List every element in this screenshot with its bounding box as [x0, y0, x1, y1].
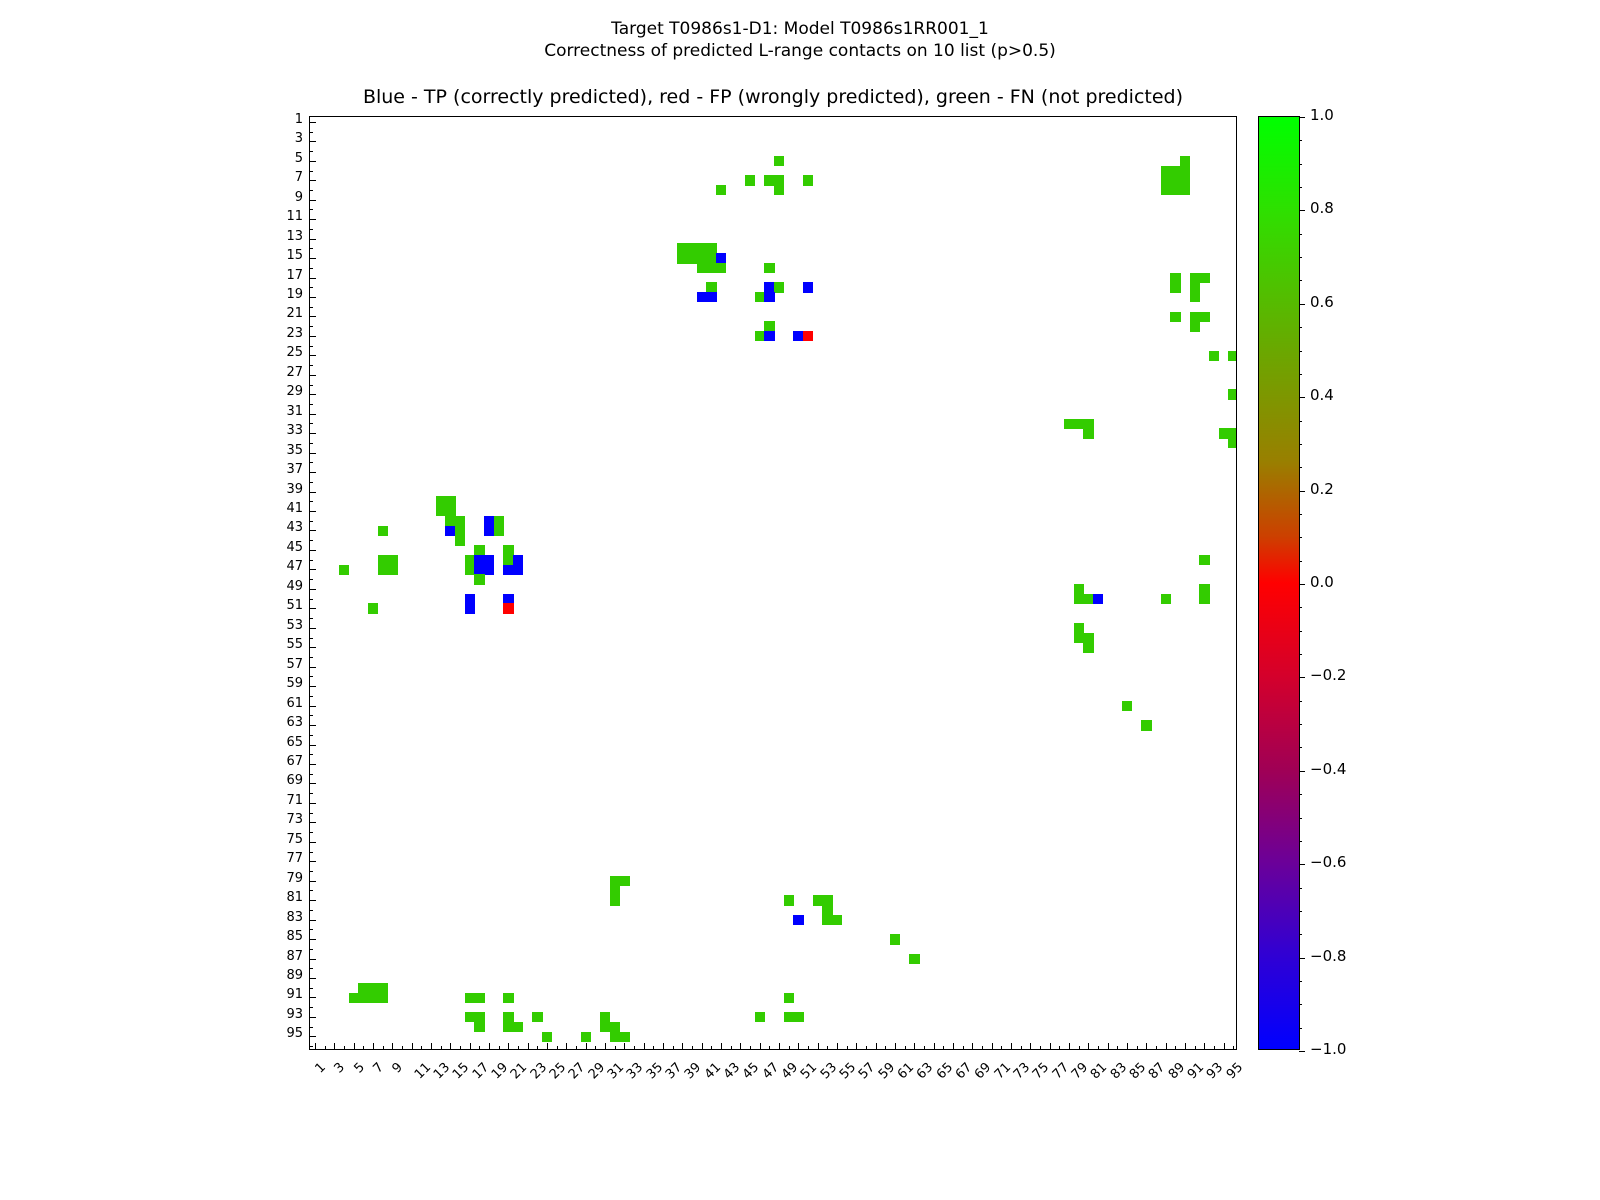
- x-tick: [373, 1043, 374, 1050]
- colorbar-minor-tick: [1299, 140, 1302, 141]
- y-tick: [309, 297, 316, 298]
- y-tick: [309, 949, 313, 950]
- y-tick-label: 63: [259, 715, 303, 730]
- contact-map-page: { "title": { "line1": "Target T0986s1-D1…: [0, 0, 1600, 1200]
- contact-cell: [1180, 185, 1190, 195]
- y-tick: [309, 171, 313, 172]
- y-tick: [309, 180, 316, 181]
- y-tick: [309, 842, 316, 843]
- contact-cell: [368, 603, 378, 613]
- contact-cell: [1199, 273, 1209, 283]
- y-tick: [309, 608, 316, 609]
- colorbar[interactable]: [1258, 116, 1300, 1050]
- y-tick: [309, 1027, 313, 1028]
- figure-title-line1: Target T0986s1-D1: Model T0986s1RR001_1: [0, 18, 1600, 40]
- x-tick: [450, 1043, 451, 1050]
- x-tick: [1117, 1046, 1118, 1050]
- colorbar-tick: [1299, 1051, 1305, 1052]
- x-tick: [837, 1043, 838, 1050]
- contact-cell: [764, 292, 774, 302]
- x-tick: [499, 1046, 500, 1050]
- y-tick: [309, 540, 313, 541]
- colorbar-minor-tick: [1299, 934, 1302, 935]
- y-tick: [309, 832, 313, 833]
- x-tick: [663, 1043, 664, 1050]
- y-tick: [309, 414, 316, 415]
- y-tick: [309, 735, 313, 736]
- x-tick: [615, 1046, 616, 1050]
- colorbar-tick-label: 0.8: [1310, 199, 1334, 217]
- x-tick: [789, 1046, 790, 1050]
- x-tick: [586, 1043, 587, 1050]
- colorbar-tick-label: −0.6: [1310, 853, 1346, 871]
- y-tick: [309, 346, 313, 347]
- contact-cell: [503, 603, 513, 613]
- y-tick: [309, 132, 313, 133]
- x-tick: [711, 1046, 712, 1050]
- colorbar-minor-tick: [1299, 631, 1302, 632]
- x-tick: [566, 1043, 567, 1050]
- contact-cell: [474, 1022, 484, 1032]
- y-tick: [309, 667, 316, 668]
- contact-cell: [1083, 642, 1093, 652]
- x-tick: [750, 1046, 751, 1050]
- y-tick-label: 39: [259, 482, 303, 497]
- y-tick: [309, 783, 316, 784]
- y-tick: [309, 268, 313, 269]
- y-tick-label: 35: [259, 443, 303, 458]
- contact-cell: [1161, 594, 1171, 604]
- y-tick-label: 47: [259, 559, 303, 574]
- contact-cell: [774, 282, 784, 292]
- y-tick: [309, 657, 313, 658]
- colorbar-minor-tick: [1299, 164, 1302, 165]
- y-tick-label: 7: [259, 170, 303, 185]
- x-tick: [547, 1043, 548, 1050]
- contact-cell: [1083, 428, 1093, 438]
- x-tick: [334, 1043, 335, 1050]
- colorbar-minor-tick: [1299, 1004, 1302, 1005]
- y-tick: [309, 968, 313, 969]
- contact-cell: [1199, 312, 1209, 322]
- contact-cell: [339, 565, 349, 575]
- x-tick: [1059, 1046, 1060, 1050]
- x-tick-label: 5: [351, 1060, 367, 1076]
- y-tick: [309, 706, 316, 707]
- y-tick-label: 33: [259, 423, 303, 438]
- x-tick: [644, 1043, 645, 1050]
- colorbar-tick: [1299, 864, 1305, 865]
- y-tick-label: 37: [259, 462, 303, 477]
- x-tick: [1175, 1046, 1176, 1050]
- y-tick: [309, 287, 313, 288]
- y-tick: [309, 141, 316, 142]
- y-tick: [309, 1017, 316, 1018]
- y-tick-label: 17: [259, 268, 303, 283]
- colorbar-tick: [1299, 397, 1305, 398]
- contact-cells-layer: [310, 117, 1236, 1049]
- colorbar-tick: [1299, 117, 1305, 118]
- y-tick: [309, 774, 313, 775]
- x-tick: [972, 1043, 973, 1050]
- x-tick: [682, 1043, 683, 1050]
- y-tick: [309, 482, 313, 483]
- y-tick-label: 49: [259, 579, 303, 594]
- y-tick: [309, 423, 313, 424]
- x-tick: [402, 1046, 403, 1050]
- x-tick: [1021, 1046, 1022, 1050]
- y-tick-label: 93: [259, 1007, 303, 1022]
- contact-cell: [716, 263, 726, 273]
- x-tick: [856, 1043, 857, 1050]
- y-tick: [309, 997, 316, 998]
- x-tick: [325, 1046, 326, 1050]
- x-tick: [624, 1043, 625, 1050]
- colorbar-minor-tick: [1299, 1028, 1302, 1029]
- y-tick: [309, 871, 313, 872]
- y-tick-label: 5: [259, 151, 303, 166]
- y-tick: [309, 200, 316, 201]
- x-tick: [827, 1046, 828, 1050]
- y-tick-label: 77: [259, 851, 303, 866]
- y-tick: [309, 219, 316, 220]
- y-tick: [309, 628, 316, 629]
- y-tick: [309, 881, 316, 882]
- x-tick: [421, 1046, 422, 1050]
- y-tick-label: 73: [259, 812, 303, 827]
- contact-cell: [706, 292, 716, 302]
- colorbar-minor-tick: [1299, 654, 1302, 655]
- contact-cell: [465, 603, 475, 613]
- y-tick: [309, 443, 313, 444]
- contact-cell: [532, 1012, 542, 1022]
- x-tick-label: 7: [370, 1060, 386, 1076]
- contact-cell: [542, 1032, 552, 1042]
- x-tick: [818, 1043, 819, 1050]
- contact-cell: [387, 565, 397, 575]
- x-tick-label: 95: [1223, 1060, 1245, 1082]
- colorbar-minor-tick: [1299, 537, 1302, 538]
- x-tick: [1127, 1043, 1128, 1050]
- y-tick: [309, 161, 316, 162]
- contact-cell: [513, 565, 523, 575]
- y-tick: [309, 394, 316, 395]
- contact-cell: [474, 574, 484, 584]
- colorbar-minor-tick: [1299, 841, 1302, 842]
- y-tick: [309, 492, 316, 493]
- y-tick: [309, 900, 316, 901]
- x-tick: [383, 1046, 384, 1050]
- y-tick-label: 69: [259, 773, 303, 788]
- contact-cell: [455, 535, 465, 545]
- y-tick: [309, 530, 316, 531]
- colorbar-minor-tick: [1299, 327, 1302, 328]
- x-tick: [673, 1046, 674, 1050]
- y-tick-label: 65: [259, 735, 303, 750]
- x-tick: [702, 1043, 703, 1050]
- x-tick: [1011, 1043, 1012, 1050]
- y-tick: [309, 618, 313, 619]
- contact-cell: [581, 1032, 591, 1042]
- y-tick: [309, 316, 316, 317]
- y-tick-label: 57: [259, 657, 303, 672]
- y-tick: [309, 521, 313, 522]
- x-tick: [557, 1046, 558, 1050]
- contact-cell: [1209, 351, 1219, 361]
- contact-cell: [1199, 594, 1209, 604]
- x-tick: [634, 1046, 635, 1050]
- y-tick: [309, 453, 316, 454]
- contact-cell: [1093, 594, 1103, 604]
- x-tick: [905, 1046, 906, 1050]
- y-tick: [309, 754, 313, 755]
- x-tick: [798, 1043, 799, 1050]
- x-tick: [1166, 1043, 1167, 1050]
- contact-cell: [1199, 555, 1209, 565]
- y-tick-label: 95: [259, 1026, 303, 1041]
- y-tick: [309, 307, 313, 308]
- colorbar-tick: [1299, 771, 1305, 772]
- y-tick: [309, 978, 316, 979]
- y-tick: [309, 190, 313, 191]
- x-tick: [1137, 1046, 1138, 1050]
- x-tick: [769, 1046, 770, 1050]
- colorbar-minor-tick: [1299, 257, 1302, 258]
- y-tick-label: 87: [259, 949, 303, 964]
- colorbar-minor-tick: [1299, 818, 1302, 819]
- y-axis-tick-labels: 1357911131517192123252729313335373941434…: [255, 116, 303, 1050]
- y-tick-label: 11: [259, 209, 303, 224]
- y-tick: [309, 764, 316, 765]
- contact-cell: [832, 915, 842, 925]
- contact-cell: [803, 175, 813, 185]
- y-tick: [309, 229, 313, 230]
- y-tick-label: 9: [259, 190, 303, 205]
- y-tick-label: 67: [259, 754, 303, 769]
- colorbar-tick: [1299, 677, 1305, 678]
- x-tick: [392, 1043, 393, 1050]
- y-tick-label: 51: [259, 598, 303, 613]
- x-tick: [1001, 1046, 1002, 1050]
- x-tick: [1030, 1043, 1031, 1050]
- y-tick: [309, 939, 316, 940]
- contact-cell: [890, 934, 900, 944]
- contact-cell: [610, 895, 620, 905]
- contact-cell: [774, 156, 784, 166]
- y-tick: [309, 433, 316, 434]
- contact-cell: [793, 1012, 803, 1022]
- colorbar-minor-tick: [1299, 561, 1302, 562]
- x-tick: [363, 1046, 364, 1050]
- y-tick-label: 91: [259, 987, 303, 1002]
- y-tick-label: 23: [259, 326, 303, 341]
- y-tick: [309, 336, 316, 337]
- y-tick: [309, 1036, 316, 1037]
- y-tick: [309, 1007, 313, 1008]
- colorbar-minor-tick: [1299, 981, 1302, 982]
- y-tick: [309, 278, 316, 279]
- x-tick: [595, 1046, 596, 1050]
- x-tick: [1214, 1046, 1215, 1050]
- y-tick: [309, 793, 313, 794]
- title-block: Target T0986s1-D1: Model T0986s1RR001_1 …: [0, 18, 1600, 62]
- x-tick: [992, 1043, 993, 1050]
- y-tick-label: 83: [259, 910, 303, 925]
- x-tick: [528, 1043, 529, 1050]
- colorbar-minor-tick: [1299, 234, 1302, 235]
- axes-legend-title: Blue - TP (correctly predicted), red - F…: [309, 86, 1237, 108]
- contact-cell: [378, 526, 388, 536]
- contact-cell: [1228, 389, 1236, 399]
- contact-map-plot[interactable]: [309, 116, 1237, 1050]
- y-tick: [309, 248, 313, 249]
- y-tick: [309, 959, 316, 960]
- x-tick: [1069, 1043, 1070, 1050]
- y-tick: [309, 599, 313, 600]
- colorbar-minor-tick: [1299, 280, 1302, 281]
- colorbar-tick: [1299, 210, 1305, 211]
- x-tick: [885, 1046, 886, 1050]
- colorbar-tick-label: −1.0: [1310, 1040, 1346, 1058]
- y-tick-label: 45: [259, 540, 303, 555]
- x-tick: [1185, 1043, 1186, 1050]
- x-tick: [876, 1043, 877, 1050]
- x-tick: [808, 1046, 809, 1050]
- colorbar-tick-label: −0.2: [1310, 666, 1346, 684]
- colorbar-tick-label: 0.6: [1310, 293, 1334, 311]
- y-tick: [309, 209, 313, 210]
- contact-cell: [764, 331, 774, 341]
- x-tick: [760, 1043, 761, 1050]
- colorbar-minor-tick: [1299, 514, 1302, 515]
- y-tick: [309, 861, 316, 862]
- x-tick: [489, 1043, 490, 1050]
- y-tick: [309, 122, 316, 123]
- contact-cell: [378, 993, 388, 1003]
- y-tick-label: 55: [259, 637, 303, 652]
- y-tick: [309, 569, 316, 570]
- contact-cell: [784, 993, 794, 1003]
- y-tick: [309, 511, 316, 512]
- x-tick: [315, 1043, 316, 1050]
- x-tick: [1224, 1043, 1225, 1050]
- colorbar-minor-tick: [1299, 187, 1302, 188]
- y-tick-label: 25: [259, 345, 303, 360]
- y-tick-label: 85: [259, 929, 303, 944]
- x-tick: [1233, 1046, 1234, 1050]
- contact-cell: [755, 1012, 765, 1022]
- colorbar-tick: [1299, 958, 1305, 959]
- x-tick: [576, 1046, 577, 1050]
- x-tick: [605, 1043, 606, 1050]
- x-tick-label: 1: [312, 1060, 328, 1076]
- x-tick: [982, 1046, 983, 1050]
- y-tick-label: 89: [259, 968, 303, 983]
- colorbar-tick: [1299, 584, 1305, 585]
- y-tick-label: 15: [259, 248, 303, 263]
- x-axis-tick-labels: 1357911131517192123252729313335373941434…: [309, 1056, 1237, 1176]
- colorbar-tick-label: 0.2: [1310, 480, 1334, 498]
- contact-cell: [909, 954, 919, 964]
- colorbar-minor-tick: [1299, 351, 1302, 352]
- y-tick: [309, 638, 313, 639]
- y-tick: [309, 715, 313, 716]
- contact-cell: [474, 993, 484, 1003]
- x-tick: [518, 1046, 519, 1050]
- x-tick: [692, 1046, 693, 1050]
- contact-cell: [803, 331, 813, 341]
- colorbar-minor-tick: [1299, 747, 1302, 748]
- x-tick: [344, 1046, 345, 1050]
- y-tick: [309, 375, 316, 376]
- y-tick-label: 53: [259, 618, 303, 633]
- x-tick-label: 9: [390, 1060, 406, 1076]
- x-tick: [963, 1046, 964, 1050]
- y-tick-label: 21: [259, 306, 303, 321]
- colorbar-minor-tick: [1299, 467, 1302, 468]
- colorbar-minor-tick: [1299, 607, 1302, 608]
- y-tick: [309, 472, 316, 473]
- y-tick: [309, 239, 316, 240]
- contact-cell: [619, 1032, 629, 1042]
- y-tick: [309, 803, 316, 804]
- x-tick: [431, 1043, 432, 1050]
- x-tick: [924, 1046, 925, 1050]
- x-tick: [953, 1043, 954, 1050]
- x-tick: [470, 1043, 471, 1050]
- x-tick: [1050, 1043, 1051, 1050]
- contact-cell: [619, 876, 629, 886]
- contact-cell: [1228, 351, 1236, 361]
- y-tick: [309, 258, 316, 259]
- x-tick: [1156, 1046, 1157, 1050]
- x-tick: [1040, 1046, 1041, 1050]
- x-tick: [721, 1043, 722, 1050]
- contact-cell: [1190, 292, 1200, 302]
- x-tick: [1079, 1046, 1080, 1050]
- x-tick: [847, 1046, 848, 1050]
- contact-cell: [793, 915, 803, 925]
- x-tick: [441, 1046, 442, 1050]
- colorbar-minor-tick: [1299, 444, 1302, 445]
- y-tick-label: 1: [259, 112, 303, 127]
- contact-cell: [1170, 312, 1180, 322]
- y-tick: [309, 355, 316, 356]
- contact-cell: [716, 185, 726, 195]
- y-tick-label: 43: [259, 520, 303, 535]
- x-tick: [653, 1046, 654, 1050]
- x-tick: [1088, 1043, 1089, 1050]
- colorbar-minor-tick: [1299, 888, 1302, 889]
- y-tick-label: 29: [259, 384, 303, 399]
- colorbar-tick-label: 0.0: [1310, 573, 1334, 591]
- colorbar-minor-tick: [1299, 374, 1302, 375]
- x-tick: [934, 1043, 935, 1050]
- y-tick-label: 3: [259, 131, 303, 146]
- x-tick: [895, 1043, 896, 1050]
- y-tick: [309, 151, 313, 152]
- x-tick: [914, 1043, 915, 1050]
- y-tick: [309, 589, 316, 590]
- y-tick: [309, 385, 313, 386]
- colorbar-minor-tick: [1299, 701, 1302, 702]
- colorbar-minor-tick: [1299, 794, 1302, 795]
- y-tick: [309, 462, 313, 463]
- x-tick: [1098, 1046, 1099, 1050]
- x-tick: [740, 1043, 741, 1050]
- y-tick-label: 79: [259, 871, 303, 886]
- y-tick: [309, 813, 313, 814]
